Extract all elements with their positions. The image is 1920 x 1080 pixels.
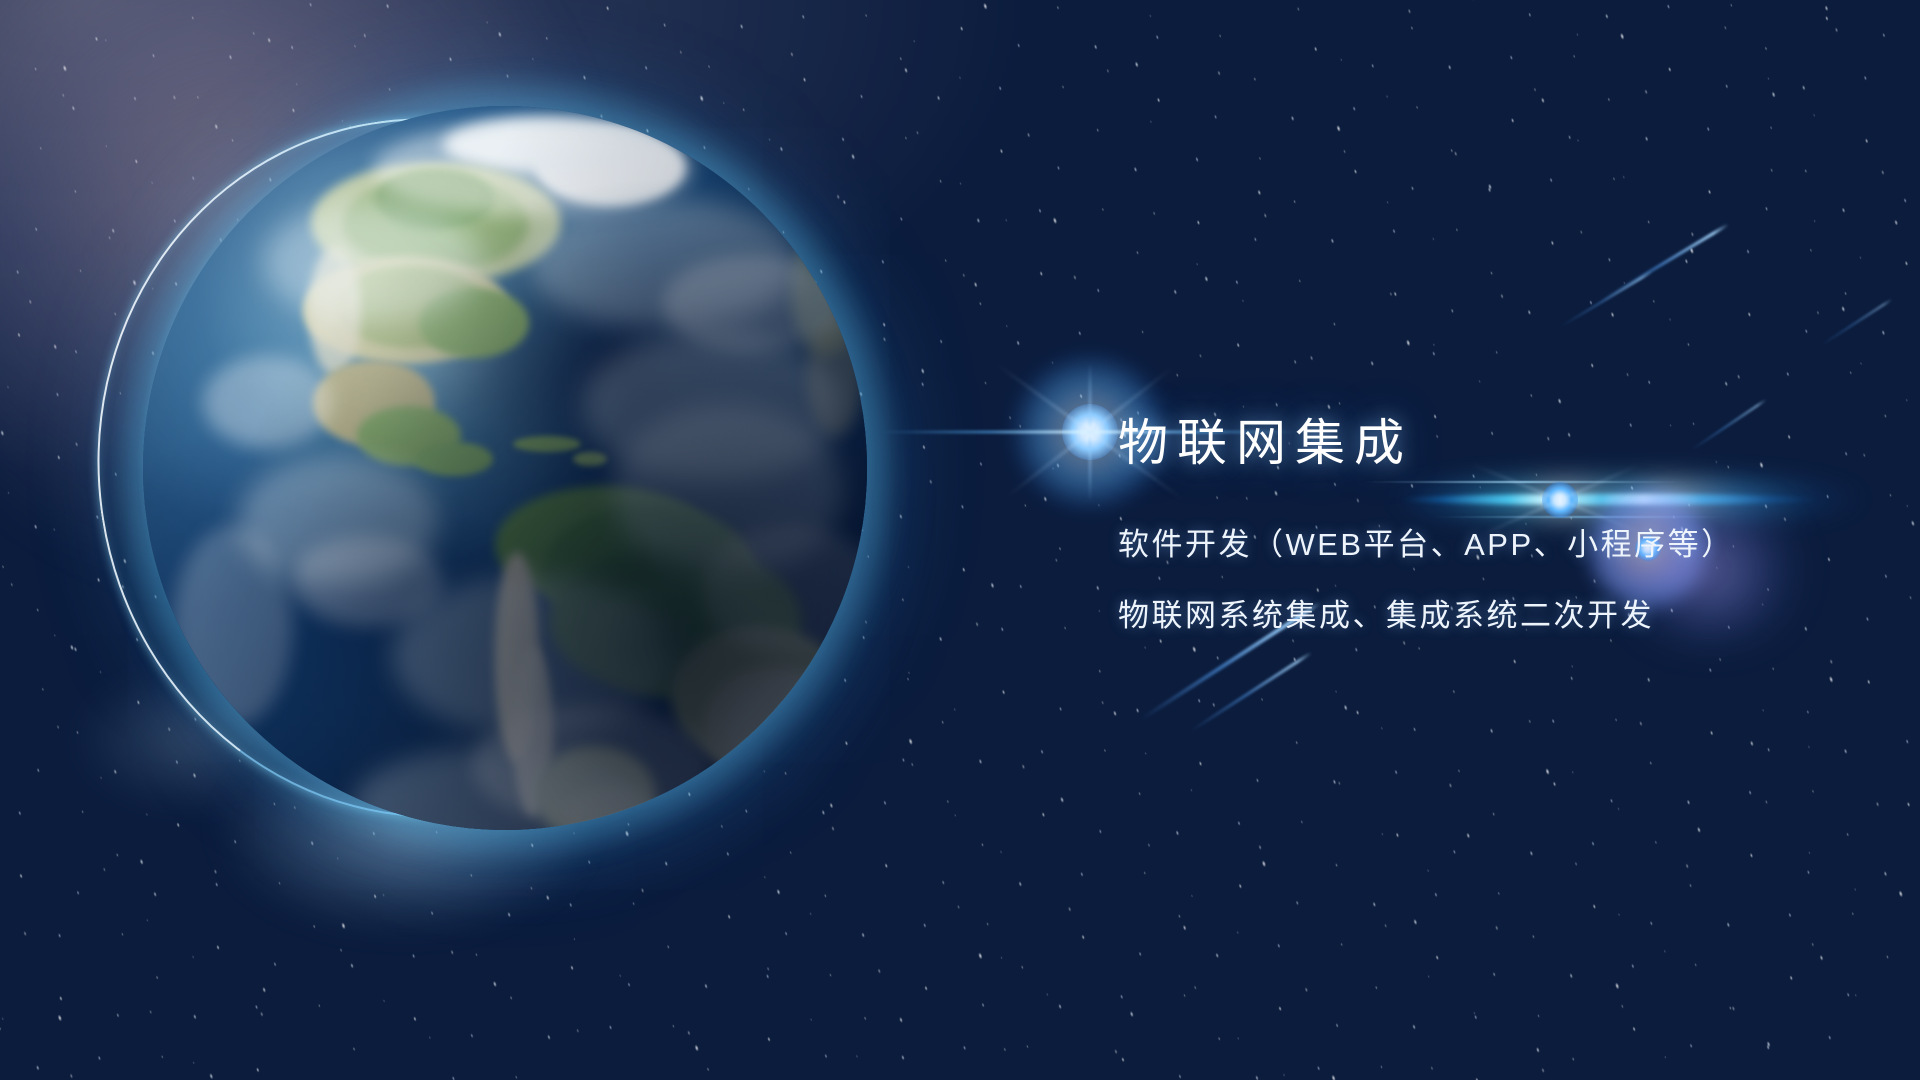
hero-subtitle-line-2: 物联网系统集成、集成系统二次开发 bbox=[1118, 600, 1735, 631]
hero-subtitle-line-1: 软件开发（WEB平台、APP、小程序等） bbox=[1118, 529, 1735, 560]
hero-copy: 物联网集成 软件开发（WEB平台、APP、小程序等） 物联网系统集成、集成系统二… bbox=[1118, 418, 1735, 631]
page-title: 物联网集成 bbox=[1118, 418, 1735, 468]
globe-sphere bbox=[143, 106, 867, 830]
globe-rim-light bbox=[143, 106, 867, 830]
hero-banner: 物联网集成 软件开发（WEB平台、APP、小程序等） 物联网系统集成、集成系统二… bbox=[0, 0, 1920, 1080]
